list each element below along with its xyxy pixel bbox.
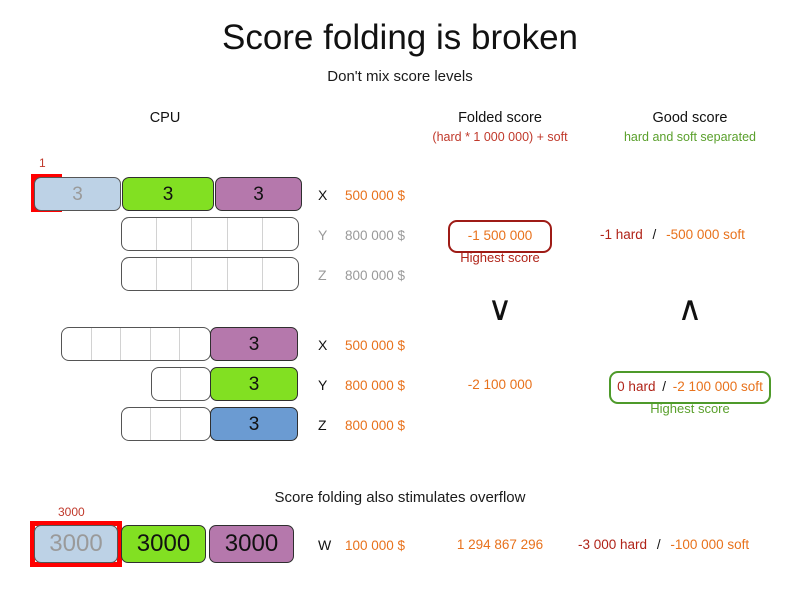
bar-slot [151,328,181,360]
good-score-separator-g2: / [662,379,666,394]
bar-empty-track-g2-x [61,327,211,361]
good-score-overflow: -3 000 hard / -100 000 soft [578,537,793,552]
capacity-label-overflow: 3000 [58,505,85,519]
column-header-good-score: Good score [590,110,790,126]
row-cost-g2-y: 800 000 $ [345,378,405,393]
bar-slot [263,258,298,290]
bar-slot [228,218,263,250]
folded-score-overflow: 1 294 867 296 [440,537,560,552]
good-score-hard-overflow: -3 000 hard [578,537,647,552]
bar-slot [181,368,210,400]
bar-segment-green: 3 [122,177,214,211]
row-label-g2-y: Y [318,377,338,393]
bar-slot [192,218,227,250]
bar-slot [157,258,192,290]
bar-segment-green: 3000 [121,525,206,563]
good-score-group1: -1 hard / -500 000 soft [600,227,780,242]
row-label-g1-z: Z [318,267,338,283]
row-cost-g1-x: 500 000 $ [345,188,405,203]
column-header-folded-score: Folded score [400,110,600,126]
bar-segment-green: 3 [210,367,298,401]
bar-segment-lightblue: 3000 [34,525,118,563]
column-subheader-folded-formula: (hard * 1 000 000) + soft [390,130,610,144]
comparator-good-icon: ∧ [660,292,720,326]
bar-row-g1-x: 3 3 3 [34,177,302,211]
page-subtitle: Don't mix score levels [0,68,800,85]
bar-segment-lightblue: 3 [34,177,121,211]
slide-canvas: Score folding is broken Don't mix score … [0,0,800,600]
bar-slot [122,218,157,250]
bar-slot [121,328,151,360]
row-cost-g1-y: 800 000 $ [345,228,405,243]
good-score-group2: 0 hard / -2 100 000 soft [617,379,763,394]
good-score-separator-overflow: / [657,537,661,552]
bar-slot [122,408,151,440]
comparator-folded-icon: ∨ [470,292,530,326]
folded-score-box-group1: -1 500 000 [448,220,552,253]
bar-row-g2-y: 3 [151,367,298,401]
good-score-separator-g1: / [653,227,657,242]
good-score-soft-g1: -500 000 soft [666,227,745,242]
highest-score-note-good: Highest score [609,401,771,416]
bar-slot [180,328,210,360]
bar-slot [92,328,122,360]
bar-segment-purple: 3000 [209,525,294,563]
row-label-g1-y: Y [318,227,338,243]
good-score-hard-g2: 0 hard [617,379,655,394]
row-cost-overflow: 100 000 $ [345,538,405,553]
bar-row-overflow: 3000 3000 3000 [34,525,294,563]
bar-slot [157,218,192,250]
folded-score-value-g1: -1 500 000 [468,228,533,243]
good-score-hard-g1: -1 hard [600,227,643,242]
row-label-g1-x: X [318,187,338,203]
bar-segment-blue: 3 [210,407,298,441]
bar-row-g1-z [121,257,299,291]
row-label-g2-z: Z [318,417,338,433]
bar-slot [122,258,157,290]
page-title: Score folding is broken [0,18,800,58]
bar-empty-track-g2-z [121,407,211,441]
section-title-overflow: Score folding also stimulates overflow [0,489,800,506]
column-header-cpu: CPU [95,110,235,126]
bar-slot [228,258,263,290]
bar-slot [192,258,227,290]
row-cost-g1-z: 800 000 $ [345,268,405,283]
folded-score-group2: -2 100 000 [440,377,560,392]
good-score-soft-overflow: -100 000 soft [670,537,749,552]
row-label-g2-x: X [318,337,338,353]
bar-row-g2-z: 3 [121,407,298,441]
capacity-label-group1: 1 [39,156,46,170]
row-cost-g2-z: 800 000 $ [345,418,405,433]
row-cost-g2-x: 500 000 $ [345,338,405,353]
bar-row-g1-y [121,217,299,251]
bar-slot [62,328,92,360]
column-subheader-good-formula: hard and soft separated [585,130,795,144]
bar-slot [181,408,210,440]
bar-slot [263,218,298,250]
bar-slot [151,408,180,440]
bar-row-g2-x: 3 [61,327,298,361]
bar-slot [152,368,181,400]
good-score-box-group2: 0 hard / -2 100 000 soft [609,371,771,404]
bar-segment-purple: 3 [210,327,298,361]
bar-empty-track-g2-y [151,367,211,401]
row-label-overflow: W [318,537,338,553]
bar-segment-purple: 3 [215,177,302,211]
good-score-soft-g2: -2 100 000 soft [673,379,763,394]
highest-score-note-folded: Highest score [437,250,563,265]
